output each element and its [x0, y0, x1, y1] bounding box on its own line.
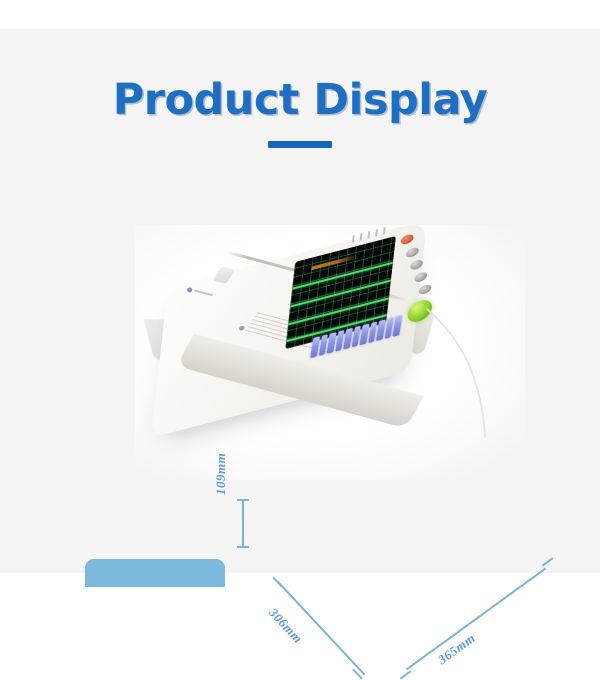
heading-block: Product Display [0, 74, 600, 148]
dimension-width-shaft [406, 568, 546, 671]
function-button-1[interactable] [406, 246, 420, 258]
dimension-height-line [235, 498, 251, 550]
product-display-page: Product Display [0, 0, 600, 600]
dimension-height-cap-top [237, 499, 249, 501]
dimension-width-cap-left [400, 670, 412, 679]
dimension-width-line [399, 560, 555, 678]
function-button-4[interactable] [418, 283, 432, 295]
page-title: Product Display [0, 74, 600, 126]
patient-cable [425, 303, 525, 443]
power-button[interactable] [400, 233, 414, 245]
dimension-height-label: 109mm [213, 453, 229, 495]
bottom-tab-pill[interactable] [85, 559, 225, 587]
function-button-3[interactable] [414, 271, 428, 283]
dimension-height-shaft [242, 500, 244, 548]
function-button-2[interactable] [410, 259, 424, 271]
ecg-machine-illustration [95, 215, 515, 505]
dimension-height-cap-bottom [237, 546, 249, 548]
title-underline [268, 141, 332, 148]
dimension-depth-cap-top [272, 577, 282, 588]
product-image-stage: 109mm 306mm 365mm [95, 215, 515, 505]
start-stop-button[interactable] [406, 297, 433, 324]
